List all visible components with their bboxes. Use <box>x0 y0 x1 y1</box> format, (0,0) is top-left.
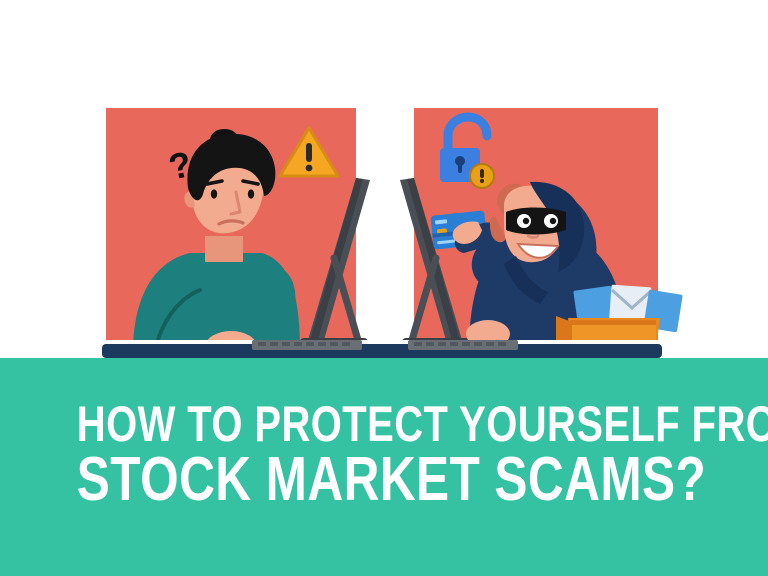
desk-surface <box>102 344 662 358</box>
illustration-scene: ? ? <box>0 0 768 360</box>
keyboard-left <box>252 340 362 350</box>
poster-title: HOW TO PROTECT YOURSELF FROM STOCK MARKE… <box>0 400 768 510</box>
title-line-1: HOW TO PROTECT YOURSELF FROM <box>77 400 691 448</box>
keyboard-right <box>408 340 518 350</box>
poster-canvas: ? ? <box>0 0 768 576</box>
title-line-2: STOCK MARKET SCAMS? <box>77 450 691 510</box>
